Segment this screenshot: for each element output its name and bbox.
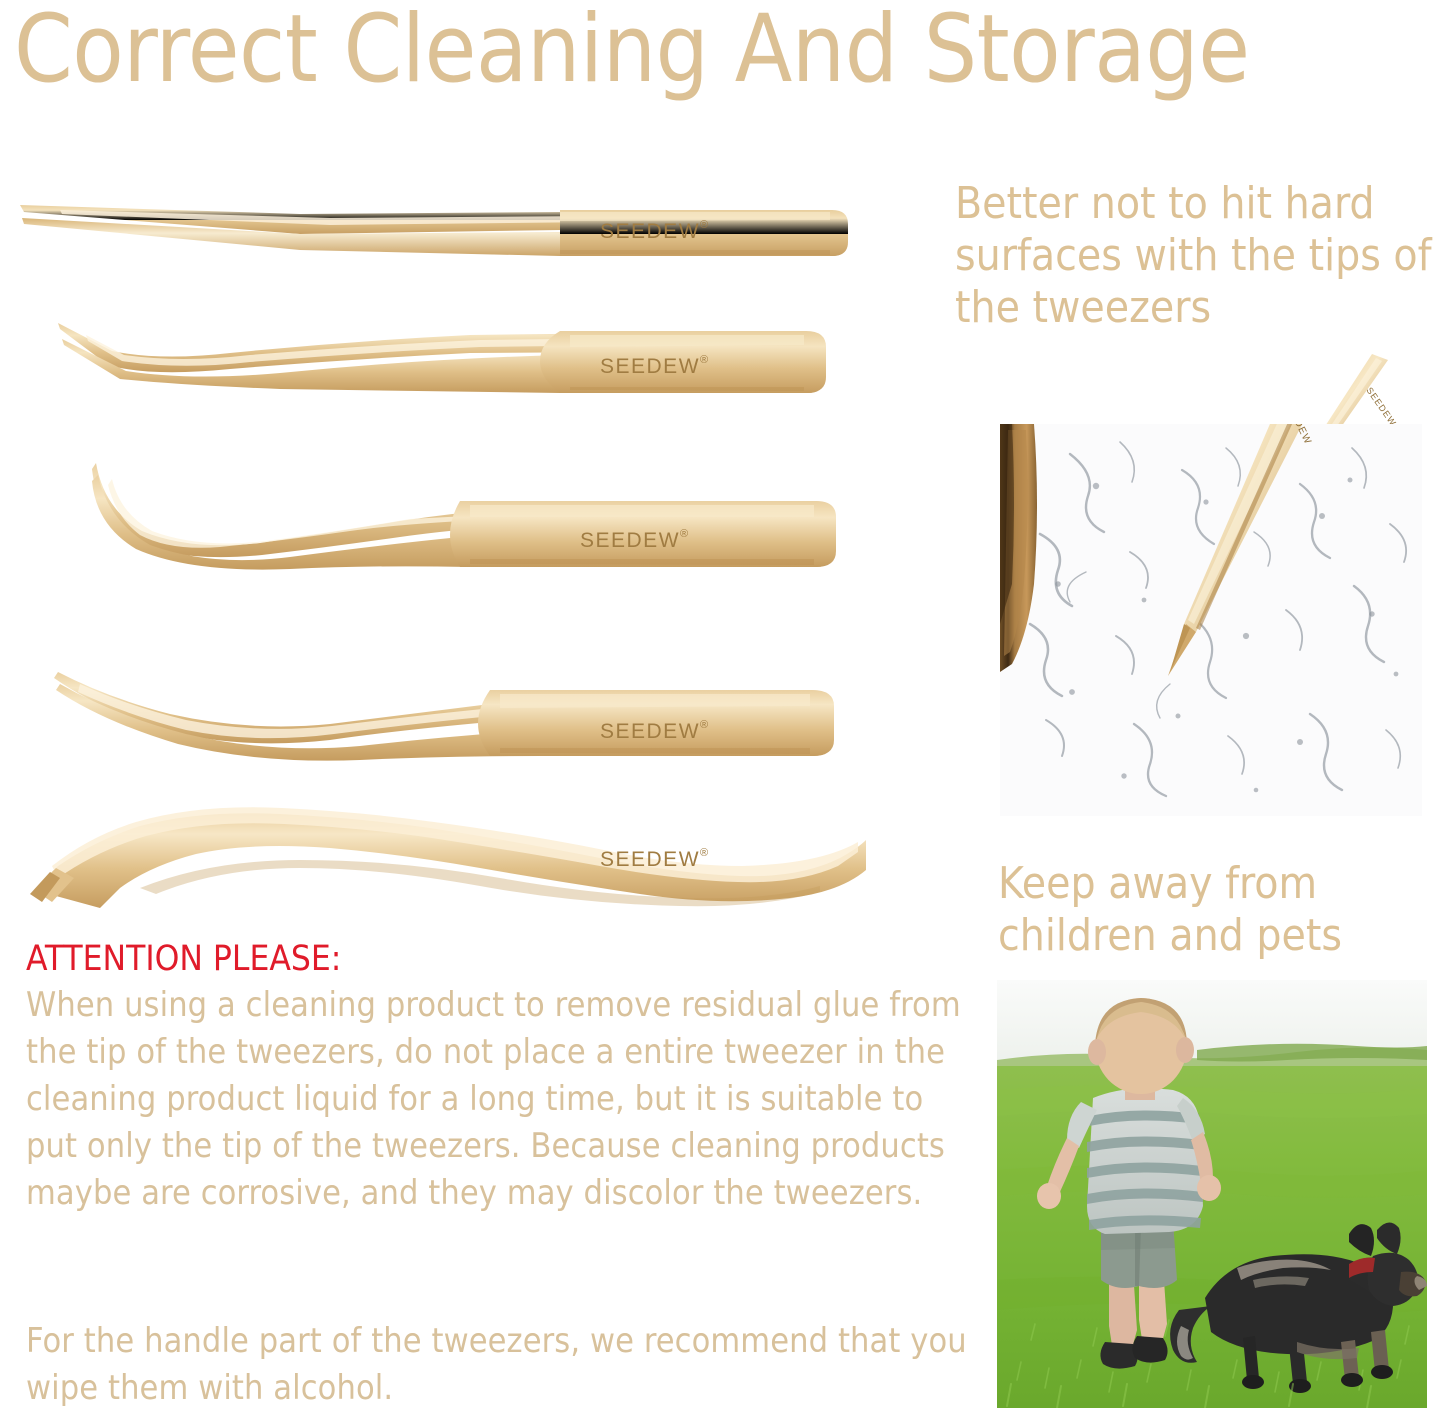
brand-label: SEEDEW (600, 720, 700, 743)
infographic-page: Correct Cleaning And Storage (0, 0, 1445, 1418)
brand-label: SEEDEW (600, 355, 700, 378)
angled-tip-tweezer: SEEDEW ® (0, 305, 950, 410)
svg-text:®: ® (700, 847, 708, 859)
brand-label: SEEDEW (600, 848, 700, 871)
svg-text:®: ® (700, 354, 708, 366)
attention-block: ATTENTION PLEASE: When using a cleaning … (26, 938, 976, 1217)
child-and-dog-photo (997, 980, 1427, 1408)
page-title: Correct Cleaning And Storage (14, 0, 1432, 104)
brand-label: SEEDEW (600, 220, 700, 243)
svg-text:®: ® (700, 719, 708, 731)
curved-tip-tweezer: SEEDEW ® (0, 650, 950, 765)
tweezer-gallery: SEEDEW ® (0, 160, 950, 920)
handle-care-note: For the handle part of the tweezers, we … (26, 1318, 976, 1412)
caption-hit-hard-surfaces: Better not to hit hard surfaces with the… (955, 178, 1443, 334)
caption-keep-away: Keep away from children and pets (998, 858, 1428, 962)
svg-text:®: ® (680, 528, 688, 540)
svg-text:SEEDEW: SEEDEW (1364, 385, 1398, 428)
attention-heading: ATTENTION PLEASE: (26, 938, 976, 980)
attention-body-text: When using a cleaning product to remove … (26, 982, 976, 1217)
boot-shaped-tweezer: SEEDEW ® (0, 792, 950, 912)
svg-text:®: ® (700, 219, 708, 231)
straight-pointed-tweezer: SEEDEW ® (0, 172, 950, 272)
brand-label: SEEDEW (580, 529, 680, 552)
curved-hook-tweezer: SEEDEW ® (0, 455, 950, 585)
tweezer-on-marble-photo: SEEDEW (1000, 424, 1422, 816)
